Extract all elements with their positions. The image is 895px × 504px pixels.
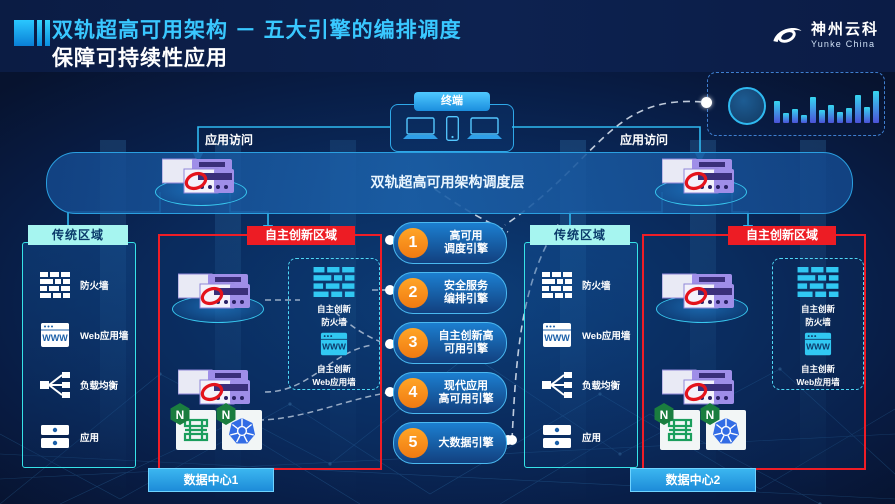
terminal-group [390,104,514,152]
engine-number-badge: 5 [398,428,428,458]
zone-item-firewall: 防火墙 [542,272,611,298]
dashboard-bar [810,97,816,123]
page-title-line2: 保障可持续性应用 [52,42,228,72]
server-stack-icon [178,272,250,312]
web-window-www-icon: WWW [542,322,572,348]
platform-icon-nginx-dc1: N [176,410,216,450]
load-balance-icon [40,372,70,398]
monitoring-dashboard-panel [707,72,885,136]
svg-text:WWW: WWW [322,342,346,352]
zone-item-load-balance: 负载均衡 [40,372,118,398]
zone-item-label: Web应用墙 [582,328,630,342]
engine-list: 1高可用调度引擎2安全服务编排引擎3自主创新高可用引擎4现代应用高可用引擎5大数… [393,222,505,472]
zone-item-label: 防火墙 [582,278,611,292]
engine-item-2[interactable]: 2安全服务编排引擎 [393,272,507,314]
connector-node [701,97,712,108]
engine-label: 高可用调度引擎 [428,230,506,256]
firewall-brick-icon [313,267,355,297]
engine-label: 现代应用高可用引擎 [428,380,506,406]
innovation-firewall-item: 自主创新 防火墙 [773,267,863,328]
innovation-zone-label-dc2: 自主创新区域 [728,226,836,245]
header-bar: 双轨超高可用架构 － 五大引擎的编排调度 保障可持续性应用 神州云科 Yunke… [0,0,895,72]
dashboard-bar [774,101,780,123]
nginx-hex-icon: N [170,403,190,425]
engine-number-badge: 4 [398,378,428,408]
innovation-item-label-line2: Web应用墙 [289,377,379,388]
zone-item-application: 应用 [40,424,99,450]
engine-number-badge: 2 [398,278,428,308]
zone-item-web-wall: WWW Web应用墙 [40,322,128,348]
engine-item-3[interactable]: 3自主创新高可用引擎 [393,322,507,364]
innovation-item-label-line2: Web应用墙 [773,377,863,388]
nginx-hex-icon: N [654,403,674,425]
svg-text:N: N [660,408,669,422]
zone-item-application: 应用 [542,424,601,450]
dashboard-bar [873,91,879,123]
zone-item-label: 应用 [582,430,601,444]
dashboard-bar [783,113,789,123]
innovation-item-label-line1: 自主创新 [289,304,379,315]
brand-name-en: Yunke China [811,40,879,49]
platform-icon-kubernetes-dc1: N [222,410,262,450]
swirl-logo-icon [770,23,804,49]
engine-item-5[interactable]: 5大数据引擎 [393,422,507,464]
server-stack-icon [662,272,734,312]
dashboard-bar [819,110,825,123]
zone-item-label: 应用 [80,430,99,444]
dashboard-bar [837,112,843,123]
zone-item-firewall: 防火墙 [40,272,109,298]
platform-icon-nginx-dc2: N [660,410,700,450]
gauge-icon [728,87,766,125]
innovation-webwall-item: WWW 自主创新 Web应用墙 [773,331,863,388]
firewall-brick-icon [40,272,70,298]
application-server-icon [542,424,572,450]
web-window-www-icon: WWW [804,331,832,357]
load-balance-icon [542,372,572,398]
innovation-item-label-line1: 自主创新 [773,364,863,375]
datacenter-label-1: 数据中心1 [148,468,274,492]
zone-item-label: Web应用墙 [80,328,128,342]
traditional-zone-label-dc2: 传统区域 [530,225,630,245]
firewall-brick-icon [797,267,839,297]
server-stack-icon [162,157,234,197]
laptop-icon [403,117,438,141]
engine-label: 大数据引擎 [428,437,506,450]
innovation-item-label-line2: 防火墙 [773,317,863,328]
access-label-right: 应用访问 [620,131,668,148]
nginx-hex-icon: N [216,403,236,425]
dashboard-bar [864,107,870,123]
dashboard-bar [828,105,834,123]
engine-label: 安全服务编排引擎 [428,280,506,306]
zone-item-web-wall: WWW Web应用墙 [542,322,630,348]
innovation-item-label-line1: 自主创新 [773,304,863,315]
engine-label: 自主创新高可用引擎 [428,330,506,356]
laptop-icon [467,117,502,141]
terminal-label: 终端 [414,92,490,111]
page-title-line1: 双轨超高可用架构 － 五大引擎的编排调度 [52,14,462,44]
engine-item-1[interactable]: 1高可用调度引擎 [393,222,507,264]
zone-item-load-balance: 负载均衡 [542,372,620,398]
slide-canvas: 双轨超高可用架构 － 五大引擎的编排调度 保障可持续性应用 神州云科 Yunke… [0,0,895,504]
dashboard-bar [801,115,807,123]
dashboard-bar [792,109,798,123]
innovation-products-dc2: 自主创新 防火墙 WWW 自主创新 Web应用墙 [772,258,864,390]
bar-chart-icon [774,85,879,123]
title-accent-icon [14,20,50,46]
svg-text:N: N [706,408,715,422]
brand-logo: 神州云科 Yunke China [770,22,879,49]
engine-number-badge: 1 [398,228,428,258]
svg-text:WWW: WWW [806,342,830,352]
datacenter-label-2: 数据中心2 [630,468,756,492]
engine-number-badge: 3 [398,328,428,358]
web-window-www-icon: WWW [320,331,348,357]
innovation-zone-label-dc1: 自主创新区域 [247,226,355,245]
dashboard-bar [855,95,861,123]
zone-item-label: 防火墙 [80,278,109,292]
svg-text:WWW: WWW [544,333,570,343]
innovation-item-label-line1: 自主创新 [289,364,379,375]
phone-icon [446,116,459,141]
firewall-brick-icon [542,272,572,298]
nginx-hex-icon: N [700,403,720,425]
innovation-firewall-item: 自主创新 防火墙 [289,267,379,328]
svg-text:N: N [222,408,231,422]
traditional-zone-label-dc1: 传统区域 [28,225,128,245]
innovation-item-label-line2: 防火墙 [289,317,379,328]
platform-icon-kubernetes-dc2: N [706,410,746,450]
server-stack-icon [662,157,734,197]
scheduling-layer-label: 双轨超高可用架构调度层 [0,172,895,192]
zone-item-label: 负载均衡 [582,378,620,392]
dashboard-bar [846,108,852,123]
innovation-server-bottom-dc1 [178,368,250,408]
application-server-icon [40,424,70,450]
innovation-webwall-item: WWW 自主创新 Web应用墙 [289,331,379,388]
web-window-www-icon: WWW [40,322,70,348]
engine-item-4[interactable]: 4现代应用高可用引擎 [393,372,507,414]
zone-item-label: 负载均衡 [80,378,118,392]
svg-text:WWW: WWW [42,333,68,343]
access-label-left: 应用访问 [205,131,253,148]
svg-text:N: N [176,408,185,422]
brand-name-cn: 神州云科 [811,22,879,37]
innovation-server-bottom-dc2 [662,368,734,408]
innovation-products-dc1: 自主创新 防火墙 WWW 自主创新 Web应用墙 [288,258,380,390]
